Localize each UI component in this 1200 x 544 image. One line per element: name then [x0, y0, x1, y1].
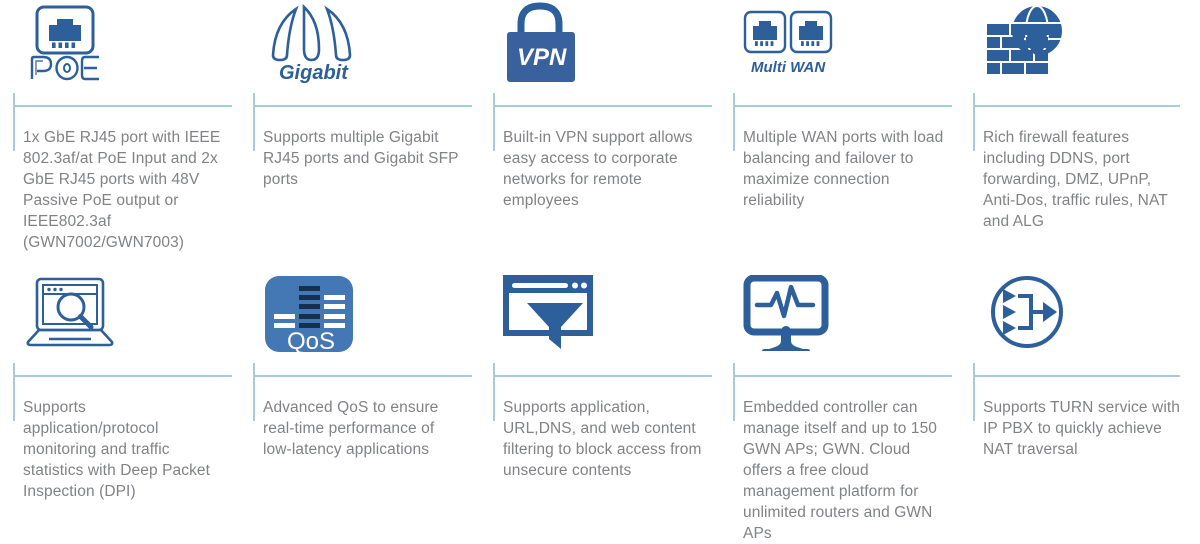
feature-card-firewall: Rich firewall features including DDNS, p… — [960, 0, 1200, 270]
divider-vertical — [253, 363, 255, 421]
icon-container-vpn: VPN — [493, 0, 720, 93]
divider-vertical — [13, 363, 15, 421]
divider-vertical — [493, 363, 495, 421]
icon-container-qos: QoS — [253, 270, 480, 363]
svg-text:Multi WAN: Multi WAN — [751, 59, 826, 76]
feature-card-controller: Embedded controller can manage itself an… — [720, 270, 960, 544]
divider-vertical — [973, 363, 975, 421]
qos-equalizer-icon: QoS — [263, 274, 355, 359]
feature-card-multi-wan: Multi WAN Multiple WAN ports with load b… — [720, 0, 960, 270]
feature-caption-gigabit: Supports multiple Gigabit RJ45 ports and… — [253, 127, 480, 190]
divider-content-filter — [493, 363, 720, 387]
feature-caption-dpi: Supports application/protocol monitoring… — [13, 397, 240, 502]
gigabit-wings-icon: Gigabit — [263, 3, 368, 90]
divider-horizontal — [975, 105, 1180, 107]
feature-caption-turn: Supports TURN service with IP PBX to qui… — [973, 397, 1200, 460]
divider-firewall — [973, 93, 1200, 117]
svg-text:VPN: VPN — [517, 44, 567, 71]
divider-horizontal — [15, 375, 232, 377]
feature-card-poe: 1x GbE RJ45 port with IEEE 802.3af/at Po… — [0, 0, 240, 270]
divider-vertical — [973, 93, 975, 151]
feature-card-vpn: VPN Built-in VPN support allows easy acc… — [480, 0, 720, 270]
icon-container-dpi — [13, 270, 240, 363]
feature-caption-content-filter: Supports application, URL,DNS, and web c… — [493, 397, 720, 481]
icon-container-gigabit: Gigabit — [253, 0, 480, 93]
poe-port-icon — [23, 5, 115, 88]
icon-container-turn — [973, 270, 1200, 363]
feature-caption-vpn: Built-in VPN support allows easy access … — [493, 127, 720, 211]
divider-horizontal — [495, 375, 712, 377]
icon-container-poe — [13, 0, 240, 93]
divider-vertical — [733, 363, 735, 421]
svg-text:QoS: QoS — [287, 328, 335, 354]
feature-caption-poe: 1x GbE RJ45 port with IEEE 802.3af/at Po… — [13, 127, 240, 253]
divider-qos — [253, 363, 480, 387]
laptop-magnifier-icon — [23, 276, 119, 357]
divider-horizontal — [735, 375, 952, 377]
divider-horizontal — [735, 105, 952, 107]
svg-text:Gigabit: Gigabit — [279, 62, 349, 84]
divider-gigabit — [253, 93, 480, 117]
divider-poe — [13, 93, 240, 117]
divider-multi-wan — [733, 93, 960, 117]
divider-dpi — [13, 363, 240, 387]
divider-horizontal — [255, 375, 472, 377]
feature-caption-multi-wan: Multiple WAN ports with load balancing a… — [733, 127, 960, 211]
feature-caption-firewall: Rich firewall features including DDNS, p… — [973, 127, 1200, 232]
feature-grid: 1x GbE RJ45 port with IEEE 802.3af/at Po… — [0, 0, 1200, 544]
icon-container-content-filter — [493, 270, 720, 363]
divider-vertical — [13, 93, 15, 151]
divider-turn — [973, 363, 1200, 387]
icon-container-multi-wan: Multi WAN — [733, 0, 960, 93]
divider-vertical — [733, 93, 735, 151]
divider-vpn — [493, 93, 720, 117]
divider-horizontal — [495, 105, 712, 107]
divider-vertical — [493, 93, 495, 151]
feature-card-gigabit: Gigabit Supports multiple Gigabit RJ45 p… — [240, 0, 480, 270]
turn-nat-traversal-arrows-icon — [983, 274, 1071, 359]
divider-controller — [733, 363, 960, 387]
feature-caption-controller: Embedded controller can manage itself an… — [733, 397, 960, 544]
monitor-pulse-icon — [743, 275, 833, 358]
firewall-brickwall-globe-icon — [983, 4, 1075, 89]
multi-wan-ports-icon: Multi WAN — [743, 10, 835, 83]
feature-card-dpi: Supports application/protocol monitoring… — [0, 270, 240, 544]
feature-caption-qos: Advanced QoS to ensure real-time perform… — [253, 397, 480, 460]
icon-container-controller — [733, 270, 960, 363]
vpn-padlock-icon: VPN — [503, 2, 581, 91]
icon-container-firewall — [973, 0, 1200, 93]
divider-horizontal — [255, 105, 472, 107]
feature-card-turn: Supports TURN service with IP PBX to qui… — [960, 270, 1200, 544]
divider-horizontal — [15, 105, 232, 107]
feature-card-content-filter: Supports application, URL,DNS, and web c… — [480, 270, 720, 544]
divider-horizontal — [975, 375, 1180, 377]
browser-funnel-filter-icon — [503, 275, 593, 358]
divider-vertical — [253, 93, 255, 151]
feature-card-qos: QoS Advanced QoS to ensure real-time per… — [240, 270, 480, 544]
